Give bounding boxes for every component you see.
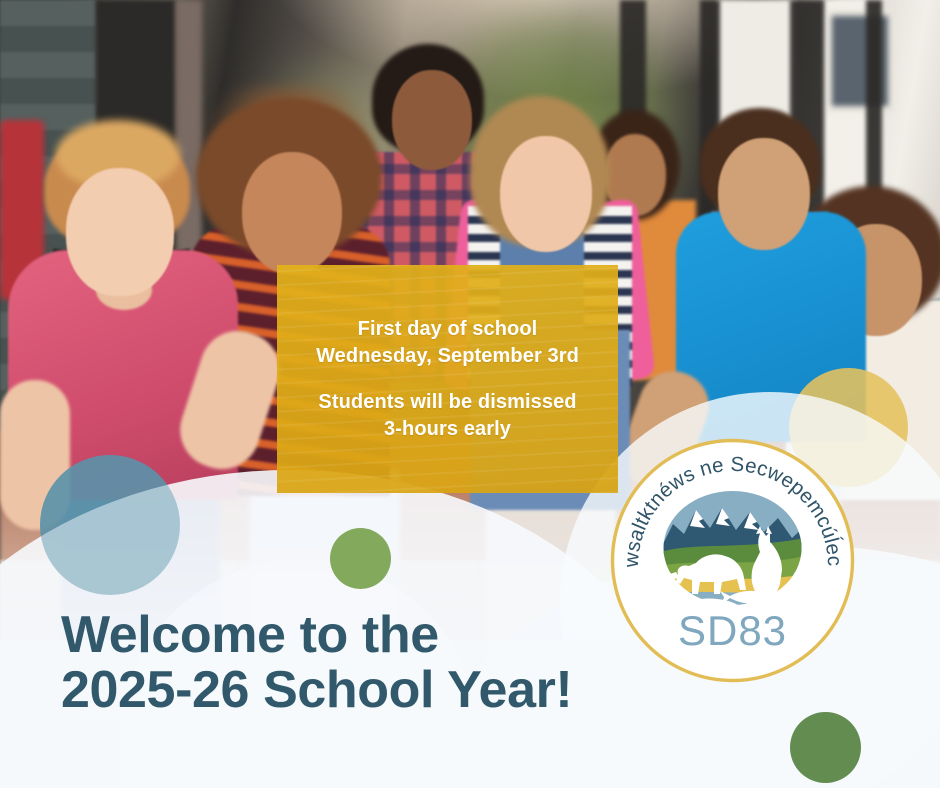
logo-wordmark: SD83 [678,607,787,654]
announcement-line-1: First day of school [358,316,538,343]
announcement-line-2: Wednesday, September 3rd [316,343,579,370]
page-title: Welcome to the 2025-26 School Year! [61,608,572,718]
poster-canvas: First day of school Wednesday, September… [0,0,940,788]
headline-line-2: 2025-26 School Year! [61,663,572,718]
announcement-line-4: 3-hours early [384,416,511,443]
child-face [392,70,472,170]
window [826,10,894,112]
headline-line-1: Welcome to the [61,608,572,663]
announcement-box: First day of school Wednesday, September… [277,265,618,493]
child-face [66,168,174,296]
announcement-line-3: Students will be dismissed [318,389,576,416]
child-face [500,136,592,252]
child-face [242,152,342,274]
child-face [718,138,810,250]
sd83-logo: Ḱwsaltktnéws ne Secwepemcúĺecw [610,438,855,683]
decorative-circle-green-large [790,712,861,783]
decorative-circle-blue-overlay [40,455,180,595]
decorative-circle-green-small [330,528,391,589]
